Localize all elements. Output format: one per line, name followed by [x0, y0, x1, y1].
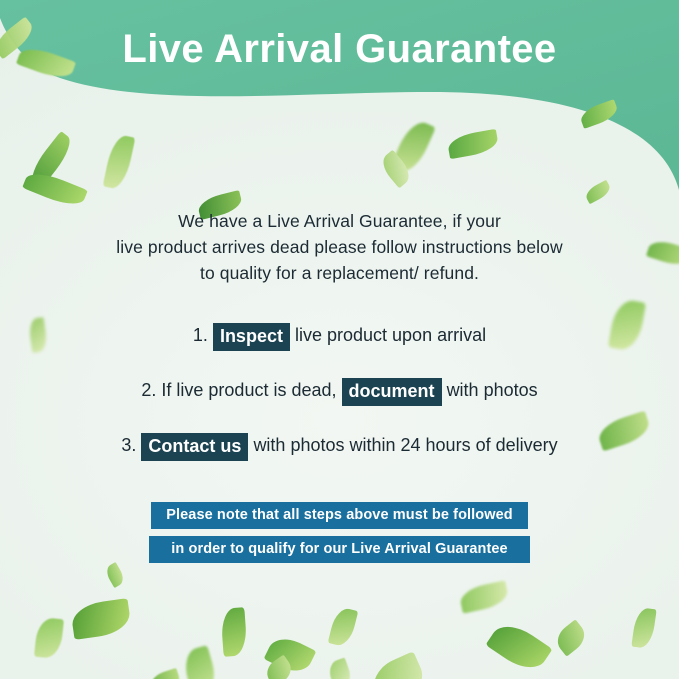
step-2-number: 2.: [141, 380, 156, 400]
step-2-highlight: document: [342, 378, 442, 406]
note-bar-line-2: in order to qualify for our Live Arrival…: [149, 536, 530, 563]
step-3-number: 3.: [121, 435, 136, 455]
page-title: Live Arrival Guarantee: [0, 29, 679, 69]
step-2-before: If live product is dead,: [161, 380, 336, 400]
intro-line-3: to quality for a replacement/ refund.: [30, 260, 650, 286]
step-2-after: with photos: [447, 380, 538, 400]
live-arrival-guarantee-poster: Live Arrival Guarantee We have a Live Ar…: [0, 0, 679, 679]
note-bar-line-1: Please note that all steps above must be…: [151, 502, 528, 529]
intro-line-2: live product arrives dead please follow …: [30, 234, 650, 260]
note-block: Please note that all steps above must be…: [140, 502, 540, 563]
step-3-highlight: Contact us: [141, 433, 248, 461]
step-1-highlight: Inspect: [213, 323, 290, 351]
poster-content: We have a Live Arrival Guarantee, if you…: [0, 0, 679, 679]
step-3-after: with photos within 24 hours of delivery: [253, 435, 557, 455]
step-item-1: 1. Inspect live product upon arrival: [0, 318, 679, 352]
step-item-2: 2. If live product is dead, document wit…: [0, 373, 679, 407]
intro-paragraph: We have a Live Arrival Guarantee, if you…: [30, 208, 650, 286]
intro-line-1: We have a Live Arrival Guarantee, if you…: [30, 208, 650, 234]
step-1-after: live product upon arrival: [295, 325, 486, 345]
step-1-number: 1.: [193, 325, 208, 345]
steps-list: 1. Inspect live product upon arrival 2. …: [0, 318, 679, 462]
step-item-3: 3. Contact us with photos within 24 hour…: [0, 428, 679, 462]
